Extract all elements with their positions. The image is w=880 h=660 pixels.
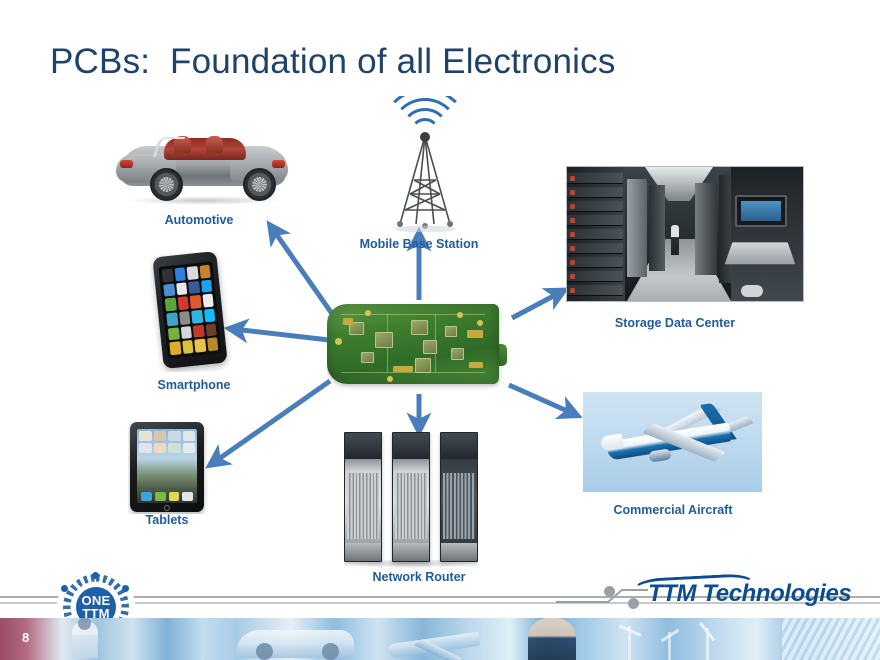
bottom-image-banner [0,618,880,660]
banner-car-wheel-1 [256,643,273,660]
smartphone-photo [150,252,232,372]
banner-car-wheel-2 [322,643,339,660]
arrow-to-tablets [213,381,330,463]
label-tablets: Tablets [146,513,189,527]
footer-trace-dot-1 [604,586,615,597]
airplane-photo [583,392,762,492]
label-commercial-aircraft: Commercial Aircraft [613,503,732,517]
banner-woman [528,618,576,660]
router-rack-photo [344,432,478,568]
arrow-to-automotive [272,228,335,318]
slide-canvas: PCBs: Foundation of all Electronics [0,0,880,660]
printed-circuit-board [327,300,507,392]
arrow-to-smartphone [233,329,329,340]
ttm-technologies-wordmark: TTM Technologies [648,580,851,608]
tablet-photo [128,422,208,514]
arrow-to-storage-data [512,292,561,318]
ttm-technologies-logo: TTM Technologies [648,580,851,608]
label-mobile-base-station: Mobile Base Station [360,237,479,251]
label-network-router: Network Router [372,570,465,584]
label-storage-data-center: Storage Data Center [615,316,735,330]
footer-trace-dot-2 [628,598,639,609]
page-number: 8 [22,630,29,645]
banner-circuit-texture [782,618,880,660]
cell-tower-photo [372,96,478,232]
label-smartphone: Smartphone [158,378,231,392]
one-ttm-line-1: ONE [81,594,110,607]
arrow-to-commercial-aircraft [509,385,574,414]
label-automotive: Automotive [165,213,234,227]
car-photo [112,118,294,210]
data-center-photo [566,166,804,302]
